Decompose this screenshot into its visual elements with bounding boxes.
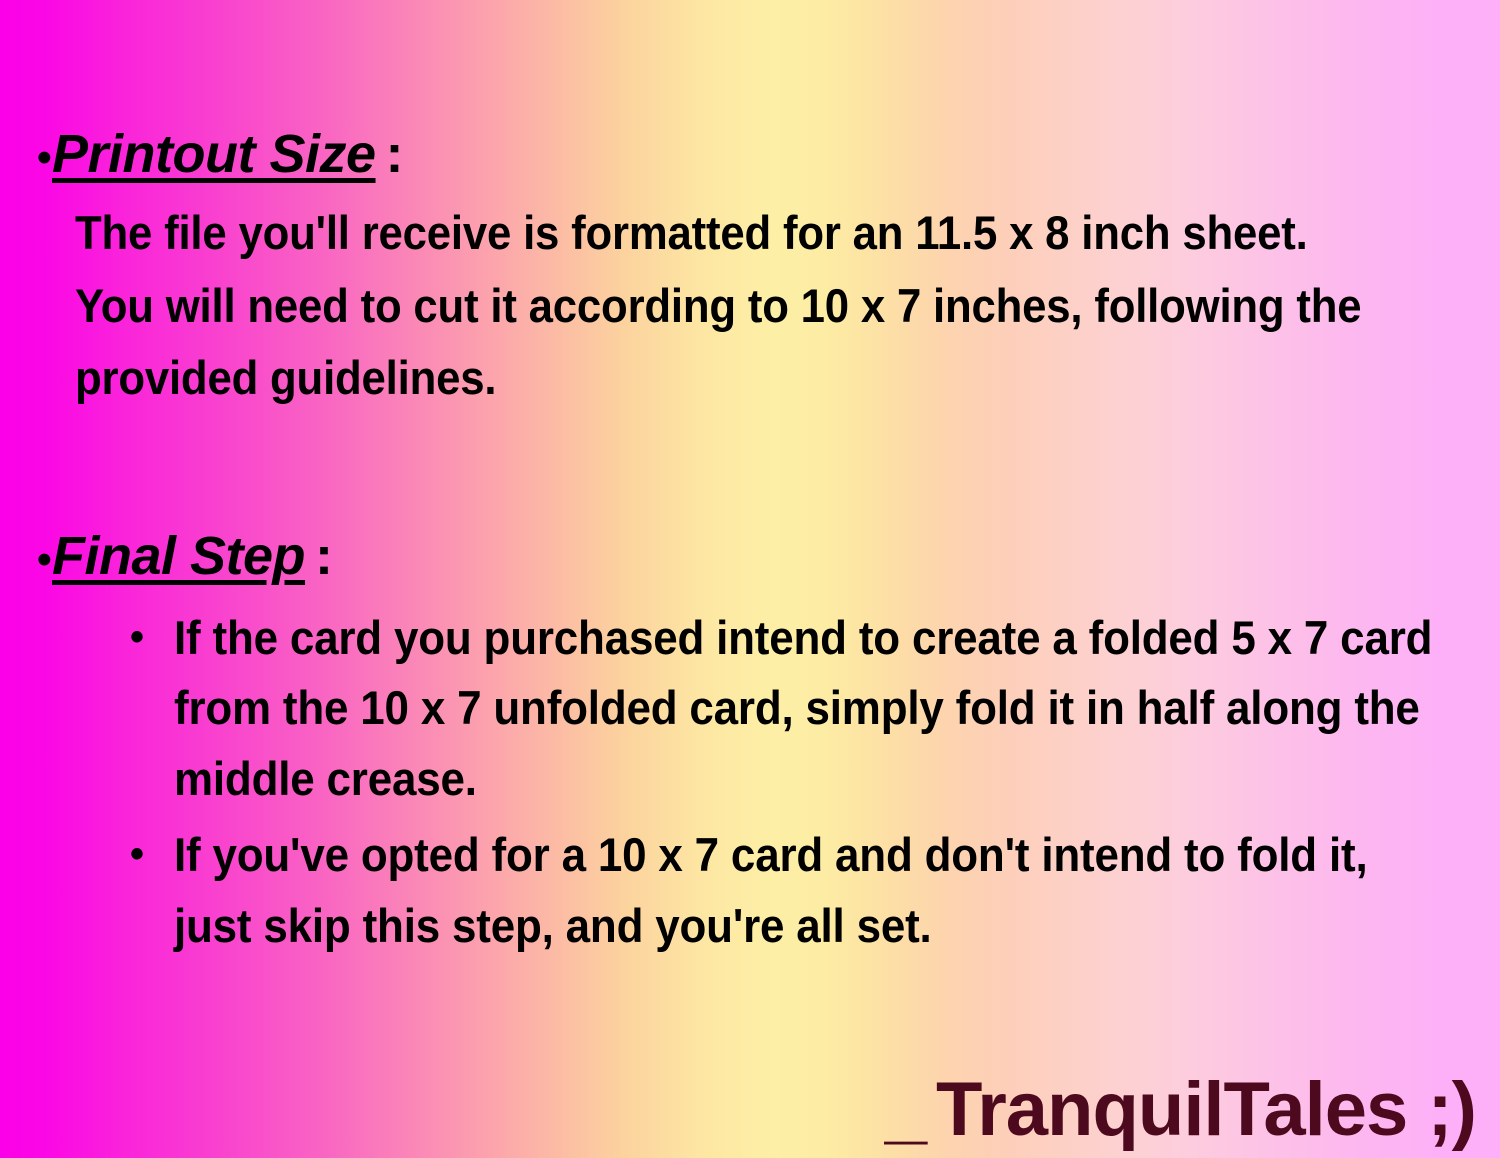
section-heading-text: Final Step <box>52 526 305 586</box>
instruction-card: • Printout Size: The file you'll receive… <box>0 0 1500 1158</box>
bullet-icon: • <box>130 820 144 888</box>
section-heading-final-step: Final Step: <box>52 528 333 585</box>
section-heading-colon: : <box>376 124 403 184</box>
heading-row-printout-size: • Printout Size: <box>0 126 1500 183</box>
list-item-text: If the card you purchased intend to crea… <box>174 603 1447 815</box>
section-heading-text: Printout Size <box>52 124 376 184</box>
bullet-icon: • <box>0 538 52 582</box>
printout-size-paragraph: The file you'll receive is formatted for… <box>75 197 1396 416</box>
heading-row-final-step: • Final Step: <box>0 528 1500 585</box>
section-heading-printout-size: Printout Size: <box>52 126 403 183</box>
bullet-icon: • <box>130 603 144 671</box>
signature-emoticon: ;) <box>1427 1067 1476 1152</box>
list-item-text: If you've opted for a 10 x 7 card and do… <box>174 820 1447 961</box>
signature-name: TranquilTales <box>936 1067 1407 1152</box>
list-item: • If the card you purchased intend to cr… <box>116 603 1446 815</box>
signature: _TranquilTales ;) <box>885 1068 1476 1152</box>
list-item: • If you've opted for a 10 x 7 card and … <box>116 820 1446 961</box>
final-step-list: • If the card you purchased intend to cr… <box>116 603 1446 962</box>
bullet-icon: • <box>0 136 52 180</box>
section-final-step: • Final Step: • If the card you purchase… <box>0 528 1500 967</box>
section-printout-size: • Printout Size: The file you'll receive… <box>0 126 1500 415</box>
section-heading-colon: : <box>305 526 332 586</box>
signature-dash: _ <box>885 1068 936 1152</box>
